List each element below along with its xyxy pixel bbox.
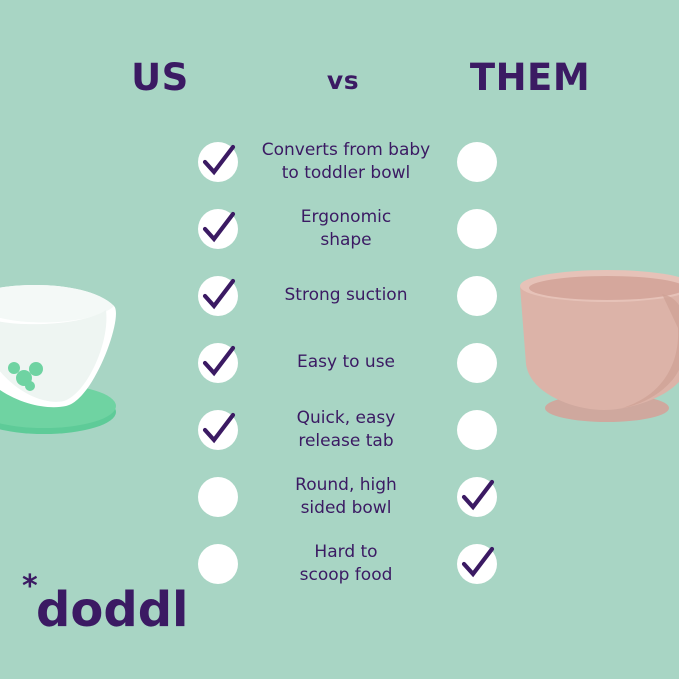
- mark-them: [452, 539, 502, 589]
- row-label: Easy to use: [246, 351, 446, 374]
- row-label-line1: Strong suction: [285, 285, 408, 305]
- mark-us: [193, 271, 243, 321]
- row-label-line1: Round, high: [295, 475, 397, 495]
- mark-them: [452, 405, 502, 455]
- brand-logo: * doddl: [22, 568, 192, 648]
- check-icon: [193, 338, 243, 388]
- row-label: Quick, easy release tab: [246, 407, 446, 453]
- row-label: Ergonomic shape: [246, 206, 446, 252]
- mark-us: [193, 472, 243, 522]
- circle-icon: [198, 477, 238, 517]
- row-label: Round, high sided bowl: [246, 474, 446, 520]
- comparison-row: Ergonomic shape: [0, 195, 679, 262]
- row-label-line1: Quick, easy: [297, 408, 396, 428]
- check-icon: [193, 271, 243, 321]
- check-icon: [193, 137, 243, 187]
- row-label-line2: release tab: [246, 430, 446, 453]
- check-icon: [193, 204, 243, 254]
- mark-us: [193, 338, 243, 388]
- row-label: Converts from baby to toddler bowl: [246, 139, 446, 185]
- column-header-us: US: [100, 56, 220, 99]
- row-label-line2: sided bowl: [246, 497, 446, 520]
- row-label: Hard to scoop food: [246, 541, 446, 587]
- logo-wordmark: doddl: [36, 582, 189, 638]
- column-header-them: THEM: [440, 56, 620, 99]
- circle-icon: [457, 209, 497, 249]
- check-icon: [452, 472, 502, 522]
- row-label-line1: Hard to: [314, 542, 377, 562]
- mark-us: [193, 405, 243, 455]
- comparison-infographic: US vs THEM: [0, 0, 679, 679]
- mark-us: [193, 204, 243, 254]
- row-label-line1: Easy to use: [297, 352, 395, 372]
- row-label-line1: Ergonomic: [301, 207, 391, 227]
- row-label: Strong suction: [246, 284, 446, 307]
- mark-them: [452, 338, 502, 388]
- mark-them: [452, 472, 502, 522]
- circle-icon: [198, 544, 238, 584]
- comparison-row: Converts from baby to toddler bowl: [0, 128, 679, 195]
- row-label-line2: scoop food: [246, 564, 446, 587]
- check-icon: [193, 405, 243, 455]
- circle-icon: [457, 142, 497, 182]
- comparison-row: Easy to use: [0, 329, 679, 396]
- row-label-line2: to toddler bowl: [246, 162, 446, 185]
- circle-icon: [457, 343, 497, 383]
- column-header-vs: vs: [288, 66, 398, 95]
- mark-us: [193, 539, 243, 589]
- circle-icon: [457, 410, 497, 450]
- comparison-rows: Converts from baby to toddler bowl Ergon…: [0, 128, 679, 597]
- mark-them: [452, 204, 502, 254]
- row-label-line2: shape: [246, 229, 446, 252]
- mark-them: [452, 271, 502, 321]
- comparison-row: Round, high sided bowl: [0, 463, 679, 530]
- check-icon: [452, 539, 502, 589]
- mark-us: [193, 137, 243, 187]
- row-label-line1: Converts from baby: [262, 140, 431, 160]
- circle-icon: [457, 276, 497, 316]
- comparison-row: Quick, easy release tab: [0, 396, 679, 463]
- mark-them: [452, 137, 502, 187]
- comparison-row: Strong suction: [0, 262, 679, 329]
